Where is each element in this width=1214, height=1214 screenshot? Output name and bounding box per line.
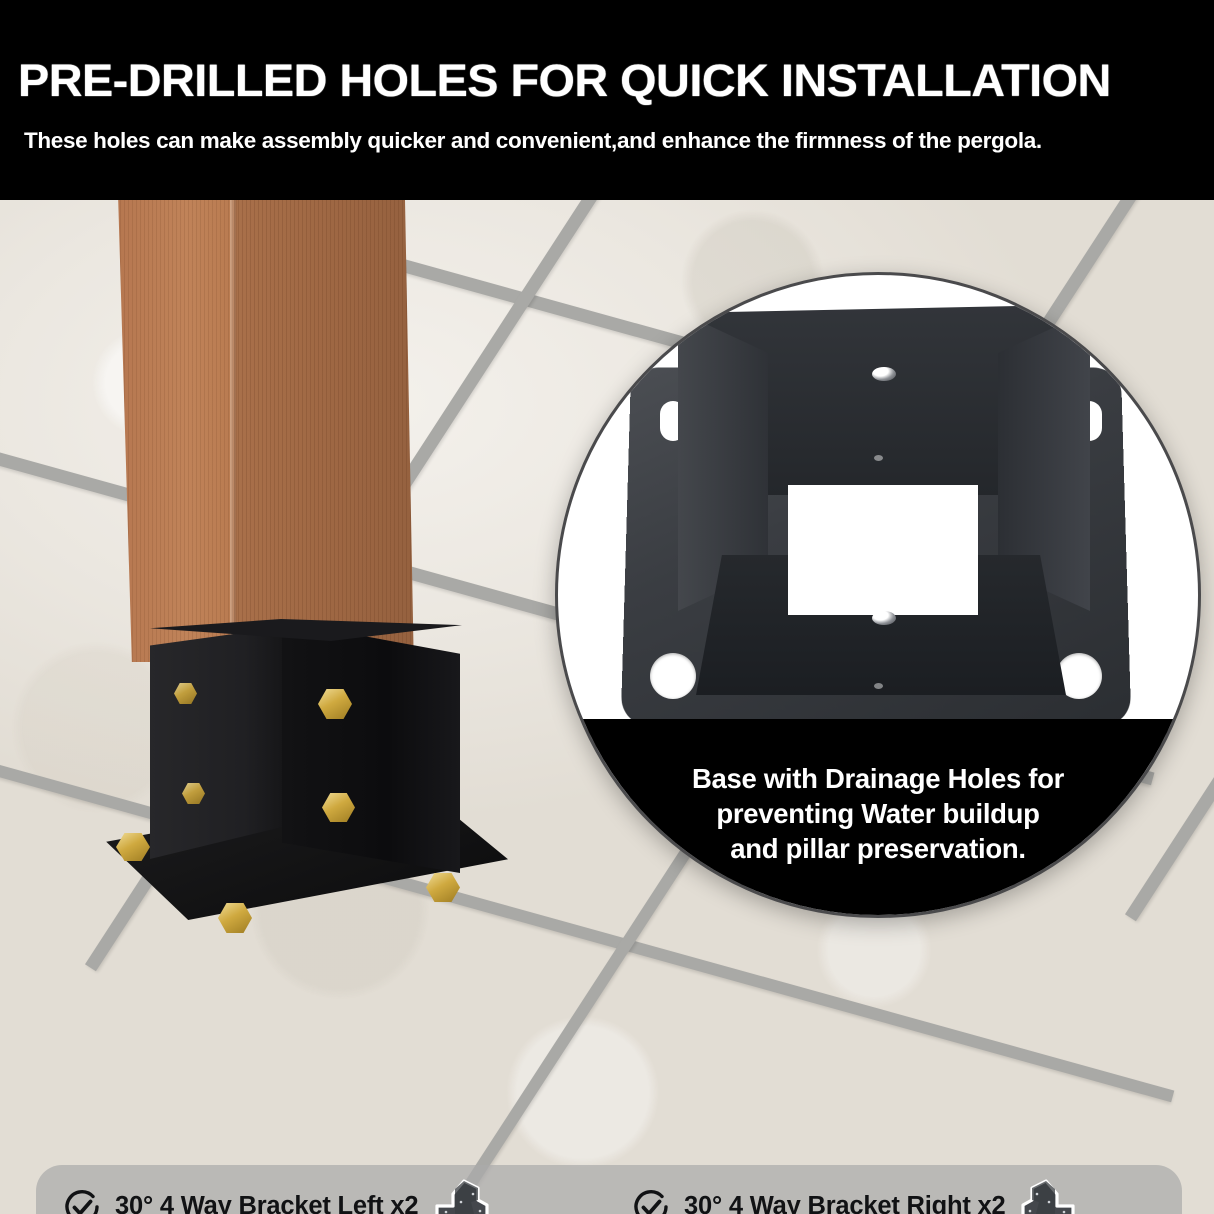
header-banner: PRE-DRILLED HOLES FOR QUICK INSTALLATION… (0, 0, 1214, 200)
inset-caption: Base with Drainage Holes for preventing … (558, 719, 1198, 915)
check-circle-icon (631, 1187, 671, 1214)
page-title: PRE-DRILLED HOLES FOR QUICK INSTALLATION (18, 55, 1214, 107)
inset-caption-line-1: Base with Drainage Holes for (692, 761, 1064, 796)
parts-list-item: 30° 4 Way Bracket Right x2 (609, 1174, 1182, 1214)
pre-drilled-hole-icon (874, 455, 883, 461)
parts-list-item-label: 30° 4 Way Bracket Left x2 (115, 1192, 418, 1214)
post-corner-edge (230, 200, 237, 670)
brass-bolt-icon (426, 873, 460, 902)
post-base-collar-right (282, 621, 460, 873)
central-drainage-opening (788, 485, 978, 615)
drainage-hole-icon (872, 367, 896, 381)
inset-caption-line-3: and pillar preservation. (730, 831, 1025, 866)
inset-caption-line-2: preventing Water buildup (716, 796, 1039, 831)
pre-drilled-hole-icon (874, 683, 883, 689)
baseplate-anchor-hole (650, 653, 696, 699)
post-base-top-lip (150, 619, 462, 641)
detail-circle-inset: Base with Drainage Holes for preventing … (555, 272, 1201, 918)
drainage-hole-icon (872, 611, 896, 625)
product-infographic: PRE-DRILLED HOLES FOR QUICK INSTALLATION… (0, 0, 1214, 1214)
post-base-bracket-closeup (608, 305, 1154, 725)
parts-list-panel: 30° 4 Way Bracket Left x2 (36, 1165, 1182, 1214)
post-base-collar-left (150, 627, 284, 859)
wooden-post (112, 200, 412, 680)
product-photo-scene: Base with Drainage Holes for preventing … (0, 200, 1214, 1214)
check-circle-icon (62, 1187, 102, 1214)
post-face-left (112, 200, 236, 662)
parts-list-item-label: 30° 4 Way Bracket Right x2 (684, 1192, 1006, 1214)
post-face-right (234, 200, 414, 674)
four-way-bracket-right-thumbnail (1019, 1178, 1079, 1214)
page-subtitle: These holes can make assembly quicker an… (24, 128, 1204, 154)
parts-list-item: 30° 4 Way Bracket Left x2 (36, 1174, 609, 1214)
four-way-bracket-left-thumbnail (431, 1178, 491, 1214)
installed-post-base (98, 615, 518, 935)
